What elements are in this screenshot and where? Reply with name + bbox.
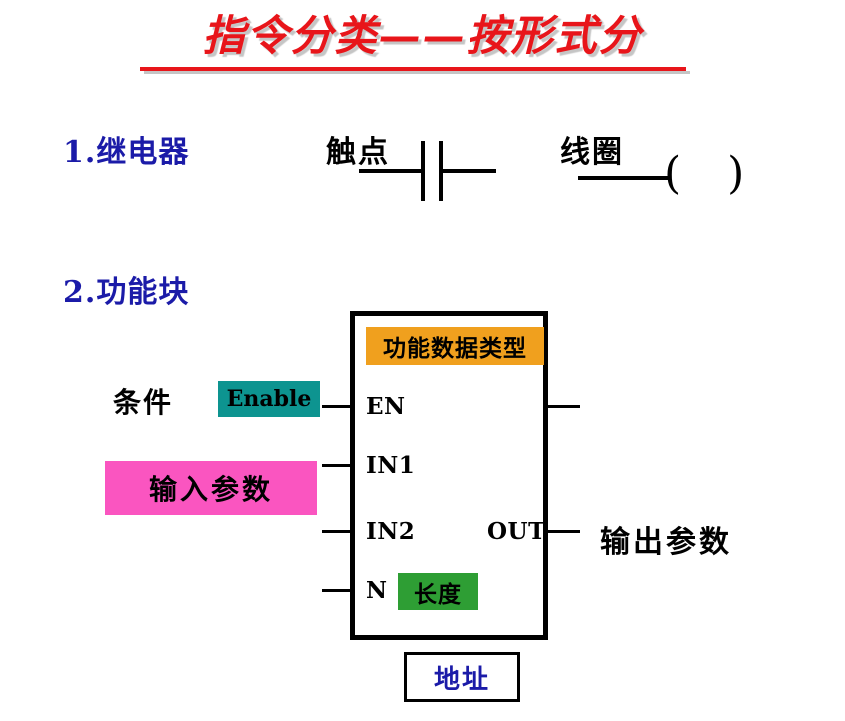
function-data-type-label: 功能数据类型 xyxy=(383,329,527,363)
input-parameters-box[interactable]: 输入参数 xyxy=(105,461,317,515)
wire-eno-output-icon xyxy=(548,405,580,408)
section-heading-relay: 1.继电器 xyxy=(63,127,189,171)
wire-in2-input-icon xyxy=(322,530,350,533)
pin-label-in1: IN1 xyxy=(366,452,415,479)
pin-label-n: N xyxy=(366,577,388,604)
input-parameters-label: 输入参数 xyxy=(149,468,273,508)
coil-wire-icon xyxy=(578,176,668,180)
contact-wire-right-icon xyxy=(441,169,496,173)
pin-label-in2: IN2 xyxy=(366,518,415,545)
enable-parameter-label: Enable xyxy=(227,386,312,412)
pin-label-out: OUT xyxy=(487,518,546,545)
wire-in1-input-icon xyxy=(322,464,350,467)
output-parameters-label: 输出参数 xyxy=(600,517,732,561)
condition-label: 条件 xyxy=(113,381,173,421)
contact-label: 触点 xyxy=(326,127,390,171)
wire-out-output-icon xyxy=(548,530,580,533)
title-underline xyxy=(140,67,686,71)
wire-en-input-icon xyxy=(322,405,350,408)
enable-parameter-box[interactable]: Enable xyxy=(218,381,320,417)
title-underline-shadow xyxy=(144,71,690,74)
contact-wire-left-icon xyxy=(359,169,423,173)
length-parameter-box[interactable]: 长度 xyxy=(398,573,478,610)
length-parameter-label: 长度 xyxy=(414,575,462,609)
pin-label-en: EN xyxy=(366,393,406,420)
address-label: 地址 xyxy=(434,659,490,696)
contact-bar-left-icon xyxy=(421,141,425,201)
address-box[interactable]: 地址 xyxy=(404,652,520,702)
coil-label: 线圈 xyxy=(560,127,624,171)
wire-n-input-icon xyxy=(322,589,350,592)
section-heading-function-block: 2.功能块 xyxy=(63,267,189,311)
coil-parentheses-icon: ( ) xyxy=(664,152,750,196)
page-title: 指令分类——按形式分 xyxy=(0,14,845,58)
function-data-type-bar: 功能数据类型 xyxy=(366,327,544,365)
